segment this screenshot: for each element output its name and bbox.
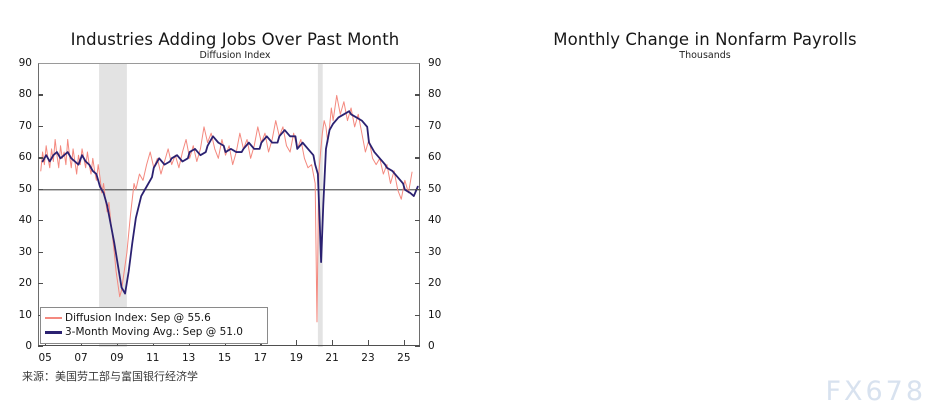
left-y-tick-label-right: 0	[428, 340, 435, 352]
left-y-tick-label: 60	[2, 151, 32, 163]
left-x-tick-label: 21	[325, 352, 338, 364]
left-source-note: 来源：美国劳工部与富国银行经济学	[22, 368, 198, 384]
right-y-tick-label: 700	[936, 134, 940, 146]
right-y-tick-label: 500	[936, 186, 940, 198]
left-y-tick	[38, 346, 43, 347]
left-y-tick-label: 30	[2, 246, 32, 258]
left-y-tick-label: 70	[2, 120, 32, 132]
legend-label-3-month-moving-avg: 3-Month Moving Avg.: Sep @ 51.0	[65, 327, 243, 338]
watermark-fx678: FX678	[825, 376, 926, 407]
right-y-tick-label: 300	[936, 237, 940, 249]
right-chart-subtitle: Thousands	[470, 50, 940, 61]
left-x-tick-label: 11	[146, 352, 159, 364]
left-y-tick-right	[415, 189, 420, 190]
left-y-tick-label: 0	[2, 340, 32, 352]
left-y-tick	[38, 283, 43, 284]
left-x-tick	[296, 340, 297, 345]
left-x-tick-label: 25	[397, 352, 410, 364]
right-y-tick-label: 100	[936, 289, 940, 301]
panel-diffusion-index: Industries Adding Jobs Over Past Month D…	[0, 0, 470, 413]
left-y-tick-label-right: 80	[428, 88, 441, 100]
legend-item-3-month-moving-avg: 3-Month Moving Avg.: Sep @ 51.0	[45, 325, 263, 339]
left-x-tick-label: 07	[74, 352, 87, 364]
left-plot-area	[38, 63, 420, 346]
left-y-tick	[38, 220, 43, 221]
left-y-tick-right	[415, 315, 420, 316]
left-y-tick-label-right: 90	[428, 57, 441, 69]
left-x-tick	[404, 340, 405, 345]
left-x-axis	[38, 345, 420, 346]
left-y-tick	[38, 126, 43, 127]
legend-label-diffusion-index: Diffusion Index: Sep @ 55.6	[65, 313, 211, 324]
left-y-tick-label-right: 30	[428, 246, 441, 258]
left-y-tick-right	[415, 346, 420, 347]
left-y-tick-label: 10	[2, 309, 32, 321]
legend-swatch-diffusion-index	[45, 317, 62, 319]
left-y-tick-label-right: 40	[428, 214, 441, 226]
left-y-tick-label-right: 50	[428, 183, 441, 195]
right-y-tick-label: 400	[936, 211, 940, 223]
left-y-tick-right	[415, 126, 420, 127]
left-y-tick-label: 80	[2, 88, 32, 100]
right-y-tick-label: 600	[936, 160, 940, 172]
left-series-svg	[39, 64, 421, 347]
two-panel-chart-figure: Industries Adding Jobs Over Past Month D…	[0, 0, 940, 413]
right-y-tick-label: 1,000	[936, 57, 940, 69]
right-y-tick-label: -100	[936, 340, 940, 352]
left-y-tick-label: 40	[2, 214, 32, 226]
right-y-tick-label: 900	[936, 83, 940, 95]
panel-nonfarm-payrolls: Monthly Change in Nonfarm Payrolls Thous…	[470, 0, 940, 413]
left-y-tick-label-right: 10	[428, 309, 441, 321]
left-x-tick-label: 09	[110, 352, 123, 364]
left-y-tick-label: 50	[2, 183, 32, 195]
left-y-tick-right	[415, 220, 420, 221]
left-y-tick	[38, 157, 43, 158]
legend-swatch-3-month-moving-avg	[45, 331, 62, 334]
left-y-tick	[38, 94, 43, 95]
left-y-tick-label-right: 70	[428, 120, 441, 132]
left-x-tick-label: 23	[361, 352, 374, 364]
right-chart-title: Monthly Change in Nonfarm Payrolls	[470, 30, 940, 49]
left-x-tick-label: 19	[290, 352, 303, 364]
left-y-tick-right	[415, 157, 420, 158]
left-y-tick-right	[415, 94, 420, 95]
left-chart-title: Industries Adding Jobs Over Past Month	[0, 30, 470, 49]
left-x-tick-label: 17	[254, 352, 267, 364]
left-y-tick-label-right: 60	[428, 151, 441, 163]
left-y-tick-right	[415, 252, 420, 253]
legend-item-diffusion-index: Diffusion Index: Sep @ 55.6	[45, 311, 263, 325]
left-chart-subtitle: Diffusion Index	[0, 50, 470, 61]
left-x-tick-label: 05	[38, 352, 51, 364]
left-x-tick	[368, 340, 369, 345]
left-x-tick-label: 13	[182, 352, 195, 364]
left-y-tick-label: 20	[2, 277, 32, 289]
left-x-tick	[332, 340, 333, 345]
left-y-tick-label-right: 20	[428, 277, 441, 289]
left-y-tick-label: 90	[2, 57, 32, 69]
right-y-tick-label: 0	[936, 314, 940, 326]
right-y-tick-label: 800	[936, 108, 940, 120]
left-y-tick	[38, 189, 43, 190]
right-y-tick-label: 200	[936, 263, 940, 275]
left-legend: Diffusion Index: Sep @ 55.6 3-Month Movi…	[40, 307, 268, 344]
left-y-tick	[38, 252, 43, 253]
left-y-tick-right	[415, 283, 420, 284]
left-x-tick-label: 15	[218, 352, 231, 364]
